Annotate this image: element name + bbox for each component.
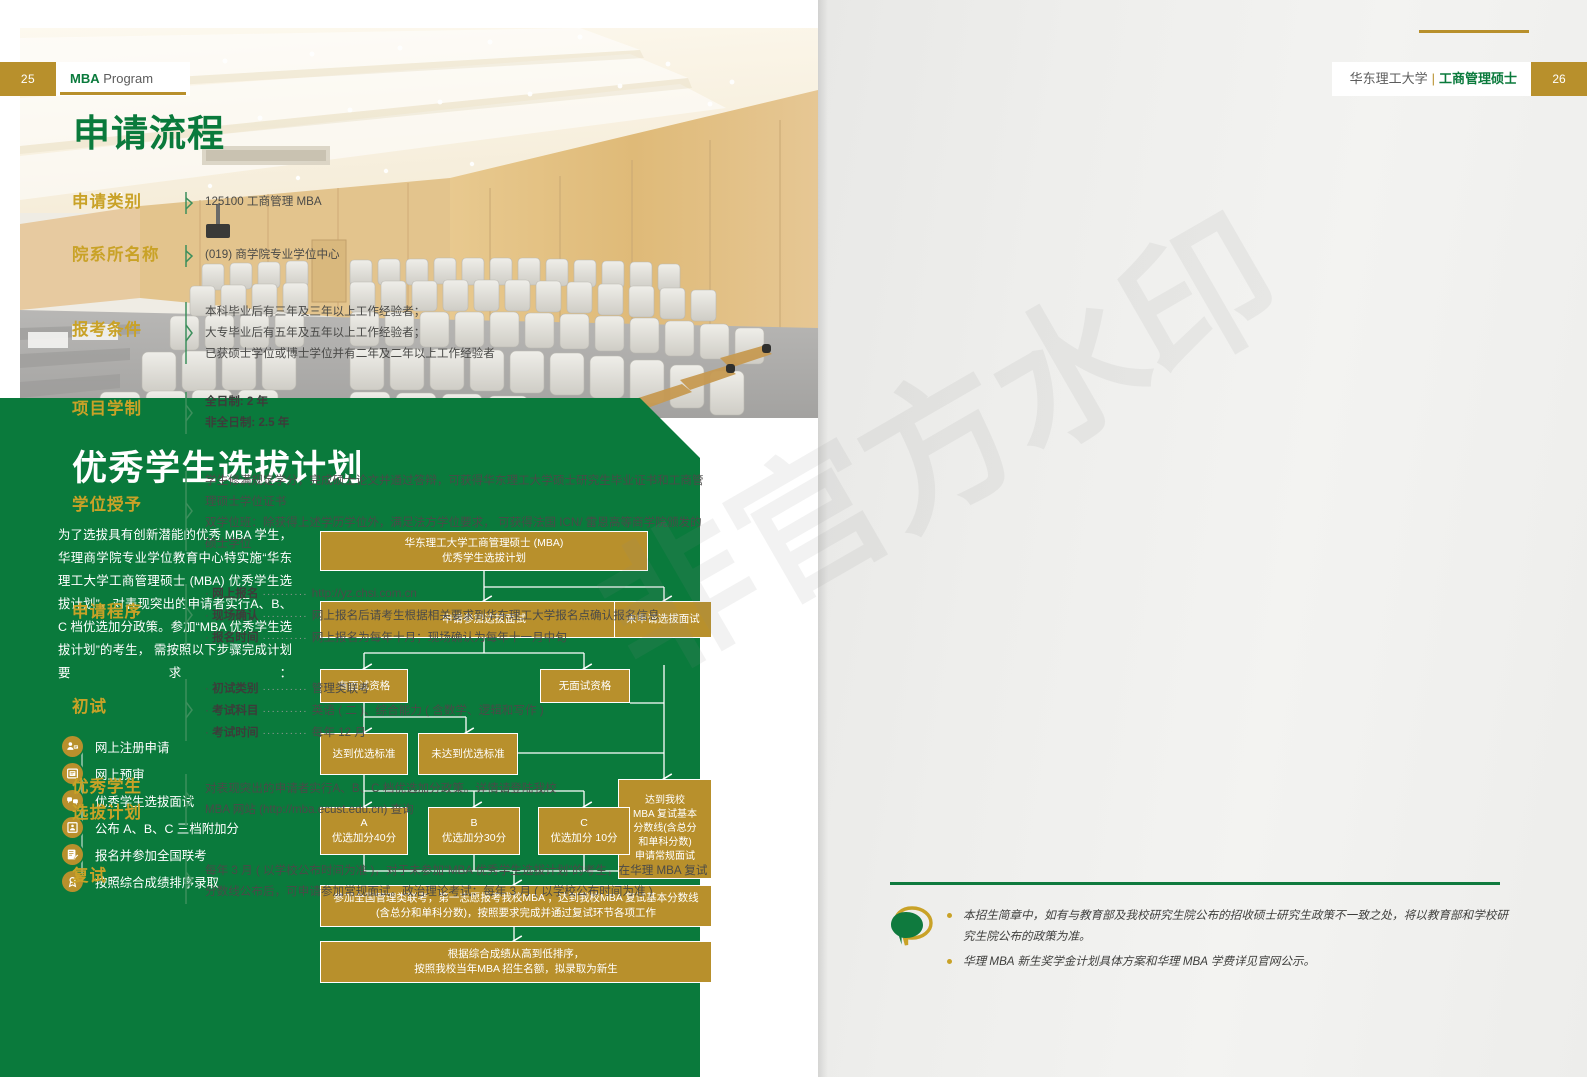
row-value: 学生修满规定学分，完成硕士论文并通过答辩，可获得华东理工大学硕士研究生毕业证书和… [205, 467, 712, 554]
table-row: 项目学制 全日制: 2 年 非全日制: 2.5 年 [72, 388, 712, 433]
left-page-number: 25 [0, 62, 56, 96]
dot-leader: ·········· [258, 706, 311, 717]
bullet-desc: http://yz.chsi.com.cn [312, 587, 417, 600]
flow-box-final-admission: 根据综合成绩从高到低排序，按照我校当年MBA 招生名额，拟录取为新生 [320, 941, 712, 983]
right-header-separator: | [1428, 71, 1439, 86]
bullet-desc: 每年 12 月 [312, 726, 366, 739]
flow-box-national-line2: (含总分和单科分数)，按照要求完成并通过复试环节各项工作 [376, 907, 656, 919]
bullet-line: · 初试类别··········管理类联考 [205, 678, 712, 700]
right-page-number: 26 [1552, 72, 1565, 86]
row-label-line: 优秀学生 [72, 774, 177, 800]
row-label: 复试 [72, 852, 177, 889]
row-value: · 初试类别··········管理类联考 · 考试科目··········英语… [205, 675, 712, 744]
bullet-desc: 网上报名后请考生根据相关要求到华东理工大学报名点确认报名信息 [312, 609, 660, 622]
row-value: 本科毕业后有三年及三年以上工作经验者； 大专毕业后有五年及五年以上工作经验者； … [205, 298, 712, 364]
right-page-header: 华东理工大学|工商管理硕士 26 [1332, 62, 1587, 96]
page-title: 申请流程 [73, 103, 225, 157]
flow-box-final-line1: 根据综合成绩从高到低排序， [448, 948, 585, 960]
speech-bubble-icon [890, 905, 946, 951]
left-header-label: MBA Program [70, 62, 153, 96]
row-label: 优秀学生 选拔计划 [72, 770, 177, 826]
bullet-line: · 考试科目··········英语 ( 二 )、综合能力 ( 含数学、逻辑和写… [205, 700, 712, 722]
right-header-label: 华东理工大学|工商管理硕士 [1332, 62, 1531, 96]
bullet-term: 考试时间 [212, 726, 258, 739]
table-row: 报考条件 本科毕业后有三年及三年以上工作经验者； 大专毕业后有五年及五年以上工作… [72, 298, 712, 364]
left-page-header: 25 MBA Program [0, 62, 190, 96]
dot-leader: ·········· [258, 589, 311, 600]
bullet-line: · 网上报名··········http://yz.chsi.com.cn [205, 583, 712, 605]
bullet-term: 考试科目 [212, 704, 258, 717]
table-row: 申请类别 125100 工商管理 MBA [72, 188, 712, 215]
row-value: · 网上报名··········http://yz.chsi.com.cn · … [205, 580, 712, 649]
row-value-line: 学生修满规定学分，完成硕士论文并通过答辩，可获得华东理工大学硕士研究生毕业证书和… [205, 470, 712, 512]
right-page-number-badge: 26 [1531, 62, 1587, 96]
notes-list: 本招生简章中，如有与教育部及我校研究生院公布的招收硕士研究生政策不一致之处，将以… [946, 905, 1510, 976]
row-value: 全日制: 2 年 非全日制: 2.5 年 [205, 388, 712, 433]
row-value-line: (019) 商学院专业学位中心 [205, 244, 712, 265]
application-process-rows: 申请类别 125100 工商管理 MBA 院系所名称 (019) 商学院专业学位… [72, 188, 712, 902]
row-value-line: 非全日制: 2.5 年 [205, 412, 712, 433]
row-value: 对表现突出的申请者实行A、B、C 档优选加分政策。详情请登陆我校 MBA 网站 … [205, 770, 712, 820]
flow-box-final-line2: 按照我校当年MBA 招生名额，拟录取为新生 [414, 963, 618, 975]
bullet-term: 现场确认 [212, 609, 258, 622]
row-label: 初试 [72, 675, 177, 720]
bullet-term: 网上报名 [212, 587, 258, 600]
table-row: 院系所名称 (019) 商学院专业学位中心 [72, 241, 712, 268]
left-header-label-accent: MBA [70, 71, 100, 86]
row-value-line: 125100 工商管理 MBA [205, 191, 712, 212]
row-value-line: 已获硕士学位或博士学位并有二年及二年以上工作经验者 [205, 343, 712, 364]
bullet-line: · 报名时间··········网上报名为每年十月；现场确认为每年十一月中旬 [205, 627, 712, 649]
bullet-desc: 网上报名为每年十月；现场确认为每年十一月中旬 [312, 631, 567, 644]
row-value-line: 大专毕业后有五年及五年以上工作经验者； [205, 322, 712, 343]
page-spine-shadow [818, 0, 828, 1077]
table-row: 申请程序 · 网上报名··········http://yz.chsi.com.… [72, 580, 712, 649]
table-row: 初试 · 初试类别··········管理类联考 · 考试科目·········… [72, 675, 712, 744]
dot-leader: ·········· [258, 633, 311, 644]
row-value-line: 双学位班：除获得上述学历学位外，满足法方学位要求， 可获得法国 ICN/ 雷恩高… [205, 512, 712, 554]
table-row: 学位授予 学生修满规定学分，完成硕士论文并通过答辩，可获得华东理工大学硕士研究生… [72, 467, 712, 554]
row-label: 报考条件 [72, 298, 177, 343]
right-header-program: 工商管理硕士 [1439, 71, 1517, 86]
bullet-term: 报名时间 [212, 631, 258, 644]
row-value: (019) 商学院专业学位中心 [205, 241, 712, 265]
row-label-line: 选拔计划 [72, 800, 177, 826]
row-value-line: MBA 网站 (http://mba.ecust.edu.cn) 查询 [205, 799, 712, 820]
notes-divider [890, 882, 1500, 885]
row-label: 学位授予 [72, 467, 177, 518]
left-header-label-rest: Program [100, 71, 153, 86]
row-value-line: 对表现突出的申请者实行A、B、C 档优选加分政策。详情请登陆我校 [205, 778, 712, 799]
list-item: 华理 MBA 新生奖学金计划具体方案和华理 MBA 学费详见官网公示。 [946, 951, 1510, 972]
row-value: 每年 3 月 ( 以学校公布时间为准 )，对于未参加“MBA 优秀学生选拔计划”… [205, 852, 712, 902]
dot-leader: ·········· [258, 728, 311, 739]
row-label: 申请程序 [72, 580, 177, 625]
notes-section: 本招生简章中，如有与教育部及我校研究生院公布的招收硕士研究生政策不一致之处，将以… [890, 905, 1510, 976]
right-header-university: 华东理工大学 [1350, 71, 1428, 86]
dot-leader: ·········· [258, 611, 311, 622]
list-item: 本招生简章中，如有与教育部及我校研究生院公布的招收硕士研究生政策不一致之处，将以… [946, 905, 1510, 947]
dot-leader: ·········· [258, 684, 311, 695]
row-label: 院系所名称 [72, 241, 177, 268]
row-label: 申请类别 [72, 188, 177, 215]
brochure-spread: 25 MBA Program 优秀学生选拔计划 为了选拔具有创新潜能的优秀 MB… [0, 0, 1587, 1077]
row-value: 125100 工商管理 MBA [205, 188, 712, 212]
table-row: 优秀学生 选拔计划 对表现突出的申请者实行A、B、C 档优选加分政策。详情请登陆… [72, 770, 712, 826]
row-value-line: 全日制: 2 年 [205, 391, 712, 412]
right-header-rule [1419, 30, 1529, 33]
row-label: 项目学制 [72, 388, 177, 422]
bullet-line: · 考试时间··········每年 12 月 [205, 722, 712, 744]
bullet-line: · 现场确认··········网上报名后请考生根据相关要求到华东理工大学报名点… [205, 605, 712, 627]
row-value-line: 本科毕业后有三年及三年以上工作经验者； [205, 301, 712, 322]
bullet-desc: 英语 ( 二 )、综合能力 ( 含数学、逻辑和写作 ) [312, 704, 544, 717]
row-value-line: 每年 3 月 ( 以学校公布时间为准 )，对于未参加“MBA 优秀学生选拔计划”… [205, 860, 712, 881]
bullet-desc: 管理类联考 [312, 682, 370, 695]
table-row: 复试 每年 3 月 ( 以学校公布时间为准 )，对于未参加“MBA 优秀学生选拔… [72, 852, 712, 902]
row-value-line: 分数线公布后，可申请参加常规面试。政治理论考试：每年 3 月 ( 以学校公布时间… [205, 881, 712, 902]
bullet-term: 初试类别 [212, 682, 258, 695]
